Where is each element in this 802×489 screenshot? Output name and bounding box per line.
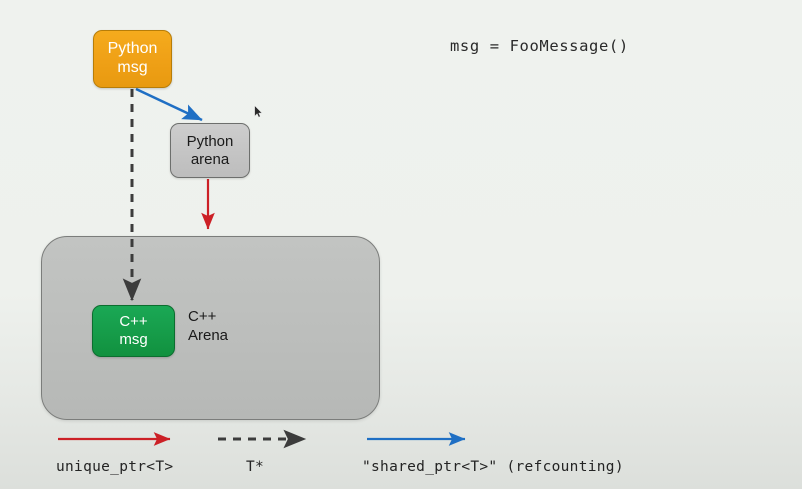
node-python-msg-line1: Python	[108, 40, 158, 59]
legend-label-shared-ptr: "shared_ptr<T>" (refcounting)	[362, 459, 624, 475]
legend-label-unique-ptr: unique_ptr<T>	[56, 459, 173, 475]
code-snippet: msg = FooMessage()	[450, 37, 629, 55]
node-python-msg[interactable]: Python msg	[93, 30, 172, 88]
cpp-arena-label-line2: Arena	[188, 327, 228, 346]
node-cpp-msg-line2: msg	[119, 331, 147, 349]
node-cpp-msg-line1: C++	[119, 313, 147, 331]
node-cpp-msg[interactable]: C++ msg	[92, 305, 175, 357]
legend-label-raw-pointer: T*	[246, 459, 264, 475]
cpp-arena-label: C++ Arena	[188, 308, 228, 346]
cpp-arena-label-line1: C++	[188, 308, 228, 327]
edge-python-msg-to-python-arena	[136, 89, 202, 120]
node-python-arena-line1: Python	[187, 133, 234, 151]
mouse-pointer-icon	[254, 105, 263, 118]
diagram-canvas: Python msg Python arena C++ msg C++ Aren…	[0, 0, 802, 489]
node-python-msg-line2: msg	[117, 59, 147, 78]
node-python-arena-line2: arena	[191, 151, 229, 169]
node-python-arena[interactable]: Python arena	[170, 123, 250, 178]
